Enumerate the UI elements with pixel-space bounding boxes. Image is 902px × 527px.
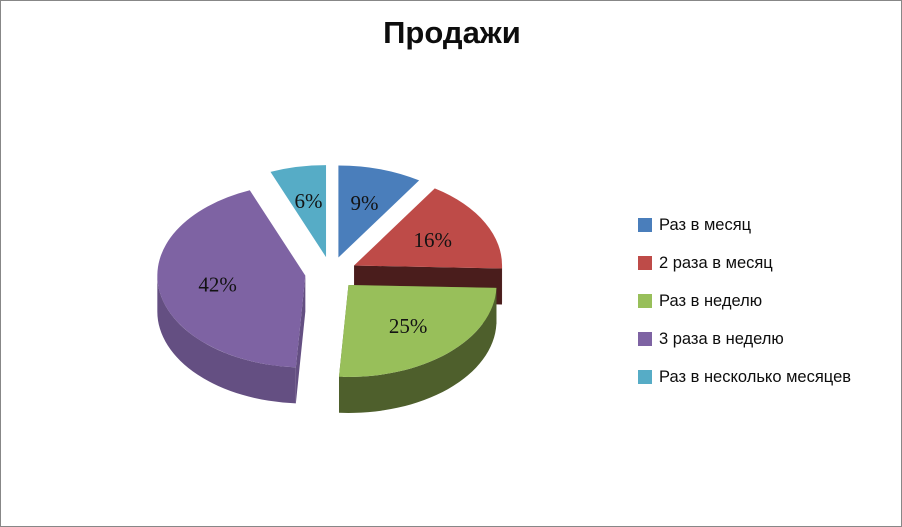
legend-item-raz-v-mesyats[interactable]: Раз в месяц <box>638 206 900 244</box>
legend-item-label: 2 раза в месяц <box>659 254 773 273</box>
legend-item-label: Раз в несколько месяцев <box>659 368 851 387</box>
pie-slice-label-раз-в-неделю: 25% <box>389 314 428 338</box>
legend-swatch-icon <box>638 332 652 346</box>
legend-item-raz-v-neskolko-mesyatsev[interactable]: Раз в несколько месяцев <box>638 358 900 396</box>
legend-item-label: 3 раза в неделю <box>659 330 784 349</box>
pie-slice-label-2-раза-в-месяц: 16% <box>414 228 453 252</box>
legend-swatch-icon <box>638 370 652 384</box>
chart-legend: Раз в месяц 2 раза в месяц Раз в неделю … <box>638 206 900 396</box>
legend-item-label: Раз в месяц <box>659 216 751 235</box>
legend-swatch-icon <box>638 256 652 270</box>
legend-swatch-icon <box>638 218 652 232</box>
pie-chart-svg: 9%16%25%42%6% <box>1 1 641 527</box>
pie-slice-label-раз-в-месяц: 9% <box>351 191 379 215</box>
pie-slice-label-3-раза-в-неделю: 42% <box>198 272 237 296</box>
pie-chart-plot-area: 9%16%25%42%6% <box>1 1 641 527</box>
chart-container: Продажи 9%16%25%42%6% Раз в месяц 2 раза… <box>0 0 902 527</box>
pie-slice-label-раз-в-несколько-месяцев: 6% <box>294 189 322 213</box>
legend-swatch-icon <box>638 294 652 308</box>
legend-item-2-raza-v-mesyats[interactable]: 2 раза в месяц <box>638 244 900 282</box>
legend-item-3-raza-v-nedelyu[interactable]: 3 раза в неделю <box>638 320 900 358</box>
legend-item-label: Раз в неделю <box>659 292 762 311</box>
legend-item-raz-v-nedelyu[interactable]: Раз в неделю <box>638 282 900 320</box>
